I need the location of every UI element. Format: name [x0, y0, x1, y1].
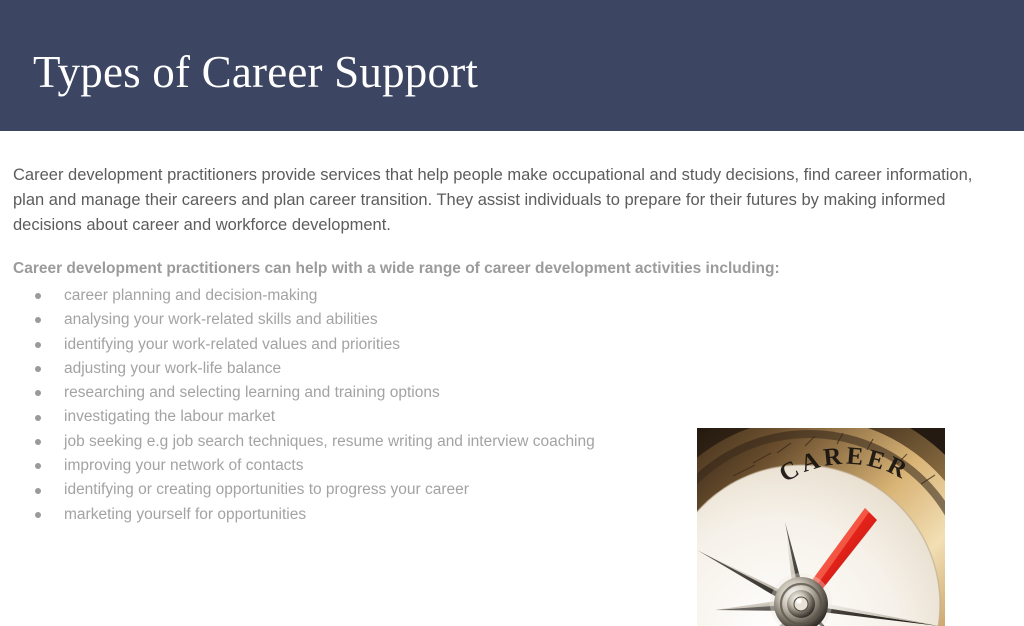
page-title: Types of Career Support — [33, 44, 478, 100]
list-item: job seeking e.g job search techniques, r… — [13, 430, 703, 454]
bullet-dot-icon — [35, 415, 41, 421]
list-item: adjusting your work-life balance — [13, 357, 703, 381]
list-item-label: job seeking e.g job search techniques, r… — [64, 433, 595, 450]
bullet-dot-icon — [35, 488, 41, 494]
list-item: investigating the labour market — [13, 405, 703, 429]
bullet-dot-icon — [35, 366, 41, 372]
compass-image: CAREER — [697, 428, 945, 626]
list-item: identifying or creating opportunities to… — [13, 478, 703, 502]
bullet-dot-icon — [35, 293, 41, 299]
bullet-dot-icon — [35, 390, 41, 396]
intro-paragraph: Career development practitioners provide… — [13, 163, 979, 238]
bullet-dot-icon — [35, 317, 41, 323]
list-item-label: identifying or creating opportunities to… — [64, 481, 469, 498]
slide-body: Career development practitioners provide… — [0, 131, 1024, 557]
list-item-label: career planning and decision-making — [64, 287, 317, 304]
list-item-label: improving your network of contacts — [64, 457, 304, 474]
bullet-dot-icon — [35, 342, 41, 348]
list-item-label: identifying your work-related values and… — [64, 336, 400, 353]
list-item-label: investigating the labour market — [64, 408, 275, 425]
list-item-label: analysing your work-related skills and a… — [64, 311, 378, 328]
compass-illustration: CAREER — [697, 428, 945, 626]
list-item: researching and selecting learning and t… — [13, 381, 703, 405]
list-item: identifying your work-related values and… — [13, 333, 703, 357]
list-item-label: adjusting your work-life balance — [64, 360, 281, 377]
lead-in-text: Career development practitioners can hel… — [13, 258, 913, 280]
list-item: career planning and decision-making — [13, 284, 703, 308]
bullet-dot-icon — [35, 512, 41, 518]
bullet-dot-icon — [35, 463, 41, 469]
slide: Types of Career Support Career developme… — [0, 0, 1024, 557]
slide-header-band: Types of Career Support — [0, 0, 1024, 131]
list-item: marketing yourself for opportunities — [13, 503, 703, 527]
list-item-label: researching and selecting learning and t… — [64, 384, 440, 401]
list-item-label: marketing yourself for opportunities — [64, 506, 306, 523]
career-activities-list: career planning and decision-makinganaly… — [13, 284, 703, 527]
bullet-dot-icon — [35, 439, 41, 445]
list-item: analysing your work-related skills and a… — [13, 308, 703, 332]
list-item: improving your network of contacts — [13, 454, 703, 478]
